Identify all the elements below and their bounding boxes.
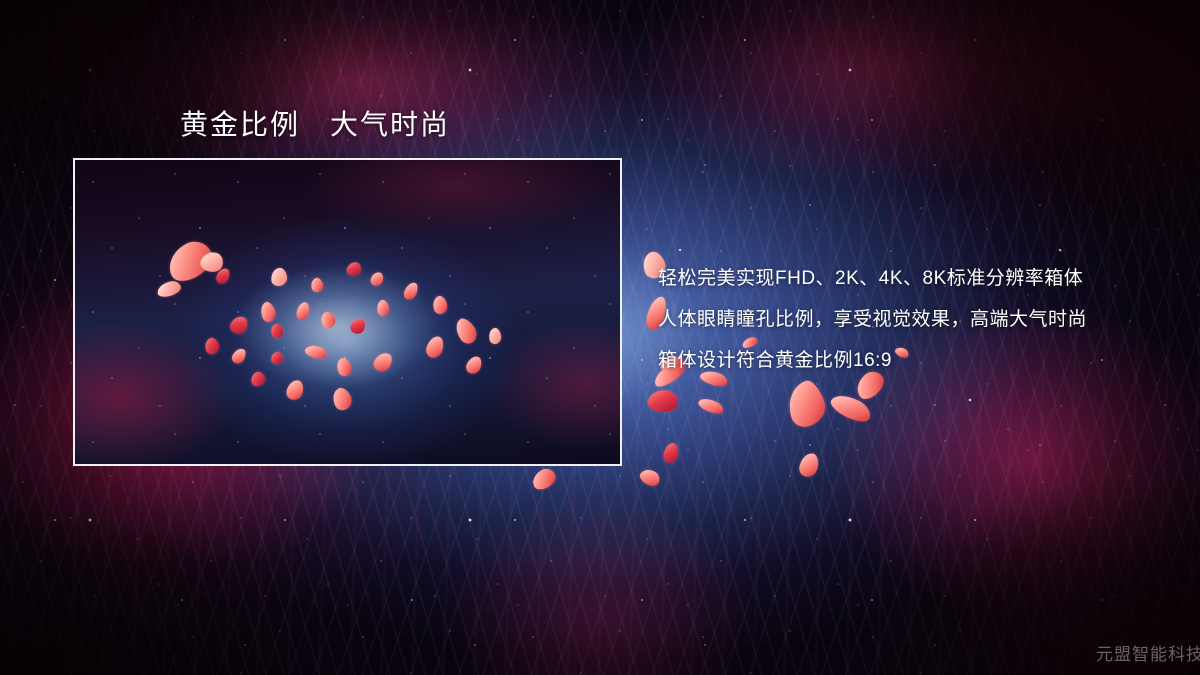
page-title: 黄金比例 大气时尚	[180, 103, 450, 143]
framed-image	[73, 158, 622, 466]
body-line-3: 箱体设计符合黄金比例16:9	[658, 340, 1178, 381]
body-line-1: 轻松完美实现FHD、2K、4K、8K标准分辨率箱体	[658, 258, 1178, 299]
body-line-2: 人体眼睛瞳孔比例，享受视觉效果，高端大气时尚	[658, 299, 1178, 340]
petal	[798, 451, 821, 478]
framed-image-starfield	[75, 160, 620, 464]
petal	[782, 378, 830, 431]
watermark: 元盟智能科技	[1096, 640, 1200, 665]
presentation-slide: 黄金比例 大气时尚 轻松完美实现FHD、2K、4K、8K标准分辨率箱体 人体眼睛…	[0, 0, 1200, 675]
body-text-block: 轻松完美实现FHD、2K、4K、8K标准分辨率箱体 人体眼睛瞳孔比例，享受视觉效…	[658, 258, 1178, 381]
petal	[638, 466, 663, 490]
petal	[647, 388, 680, 414]
petal	[697, 395, 726, 417]
petal	[529, 466, 558, 493]
petal	[663, 442, 679, 463]
